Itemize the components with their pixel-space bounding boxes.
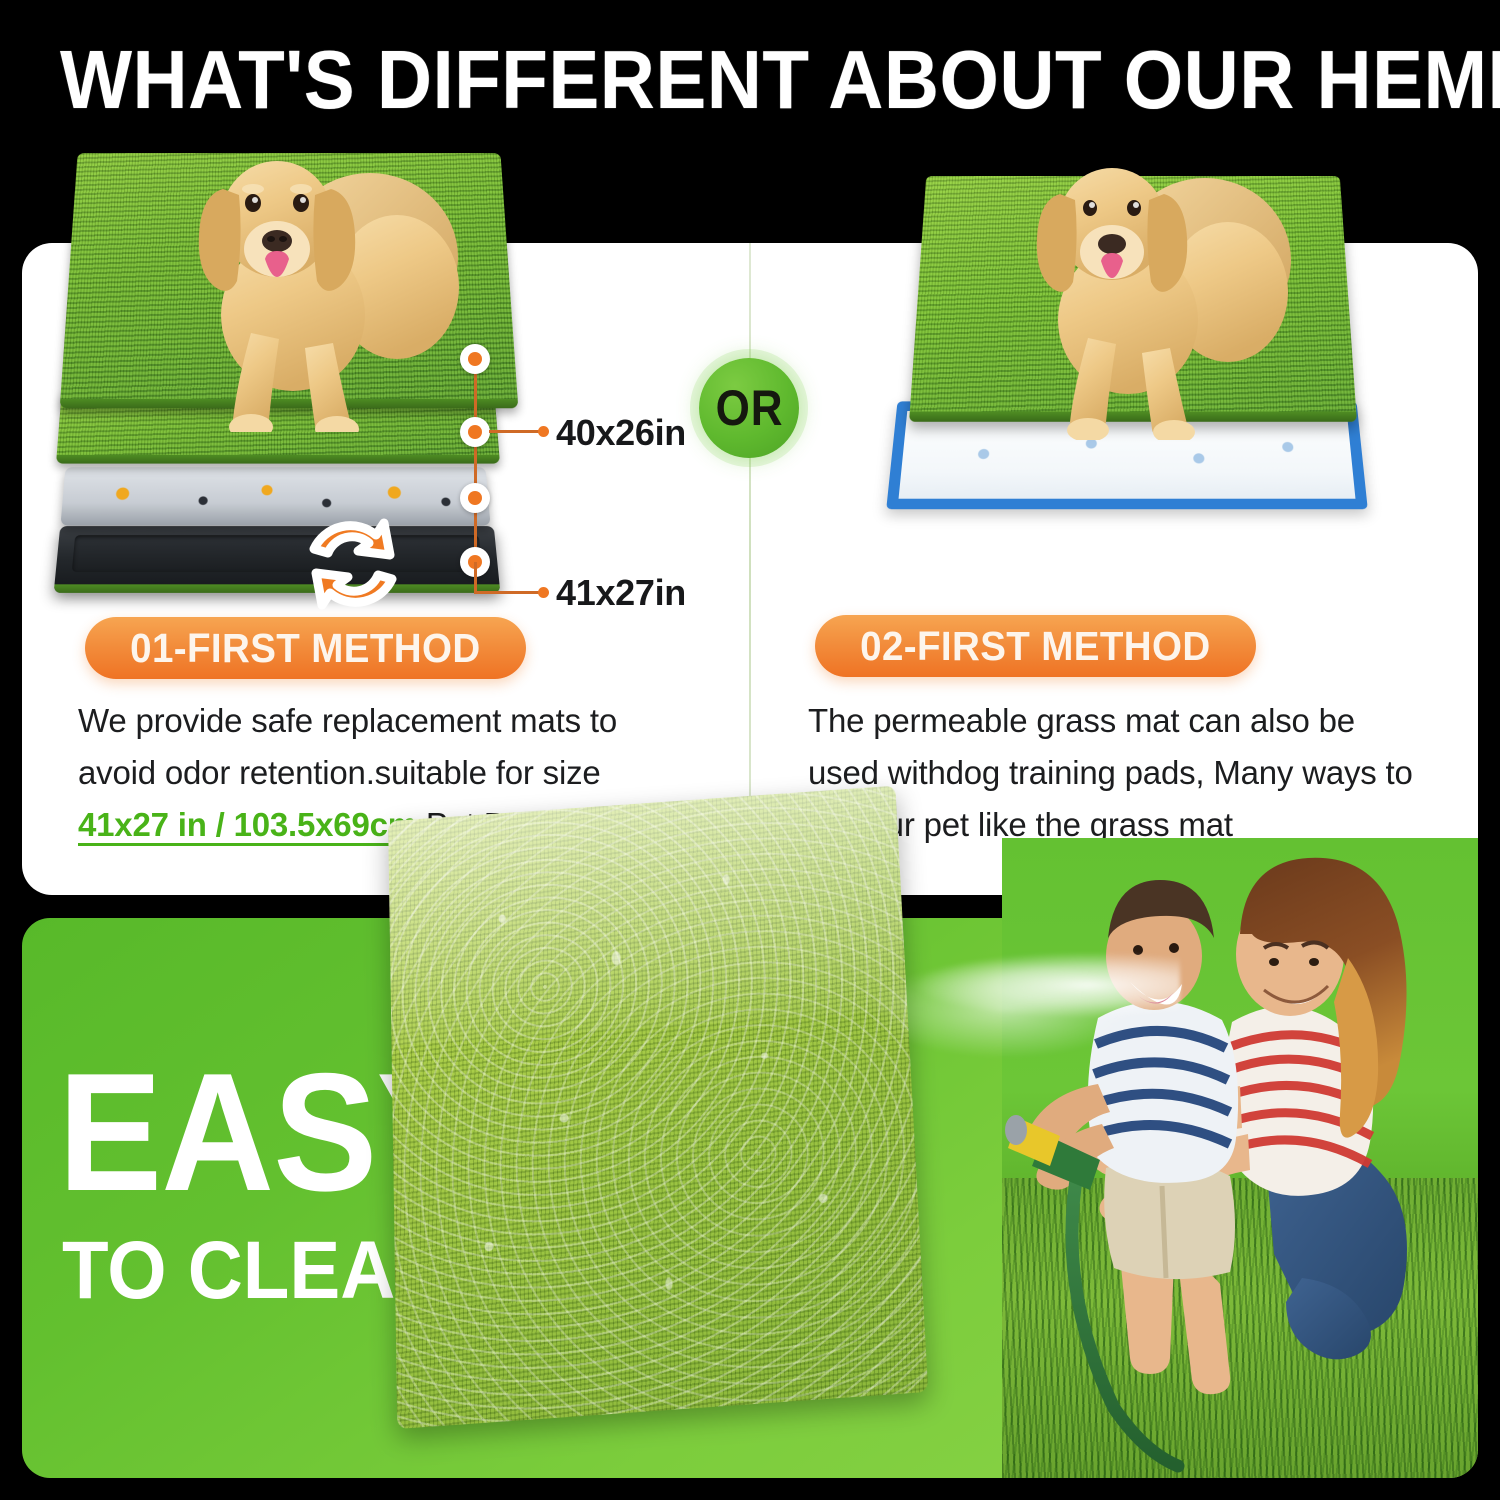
page-title: WHAT'S DIFFERENT ABOUT OUR HEMMING GRASS… (60, 34, 1440, 126)
method-badge-02: 02-FIRST METHOD (815, 615, 1256, 677)
mother-and-child-hose-photo (1002, 838, 1478, 1478)
wet-mat-gloss (388, 786, 907, 1046)
method-body-02: The permeable grass mat can also be used… (808, 695, 1428, 851)
swap-arrows-icon (292, 503, 414, 625)
or-badge-label: OR (715, 379, 783, 437)
stacked-pet-potty-scene (55, 135, 525, 605)
to-clean-subheading: TO CLEAN (62, 1228, 450, 1314)
black-tray-layer (54, 526, 501, 593)
wet-grass-mat (388, 786, 928, 1429)
golden-retriever-dog-right (1000, 140, 1300, 440)
method-badge-01: 01-FIRST METHOD (85, 617, 526, 679)
golden-retriever-dog-left (165, 137, 465, 432)
or-badge: OR (699, 358, 799, 458)
patterned-pad-layer (60, 467, 490, 525)
size-highlight-01: 41x27 in / 103.5x69cm (78, 806, 417, 846)
infographic-root: WHAT'S DIFFERENT ABOUT OUR HEMMING GRASS… (0, 0, 1500, 1500)
grass-over-pad-scene (880, 145, 1400, 545)
